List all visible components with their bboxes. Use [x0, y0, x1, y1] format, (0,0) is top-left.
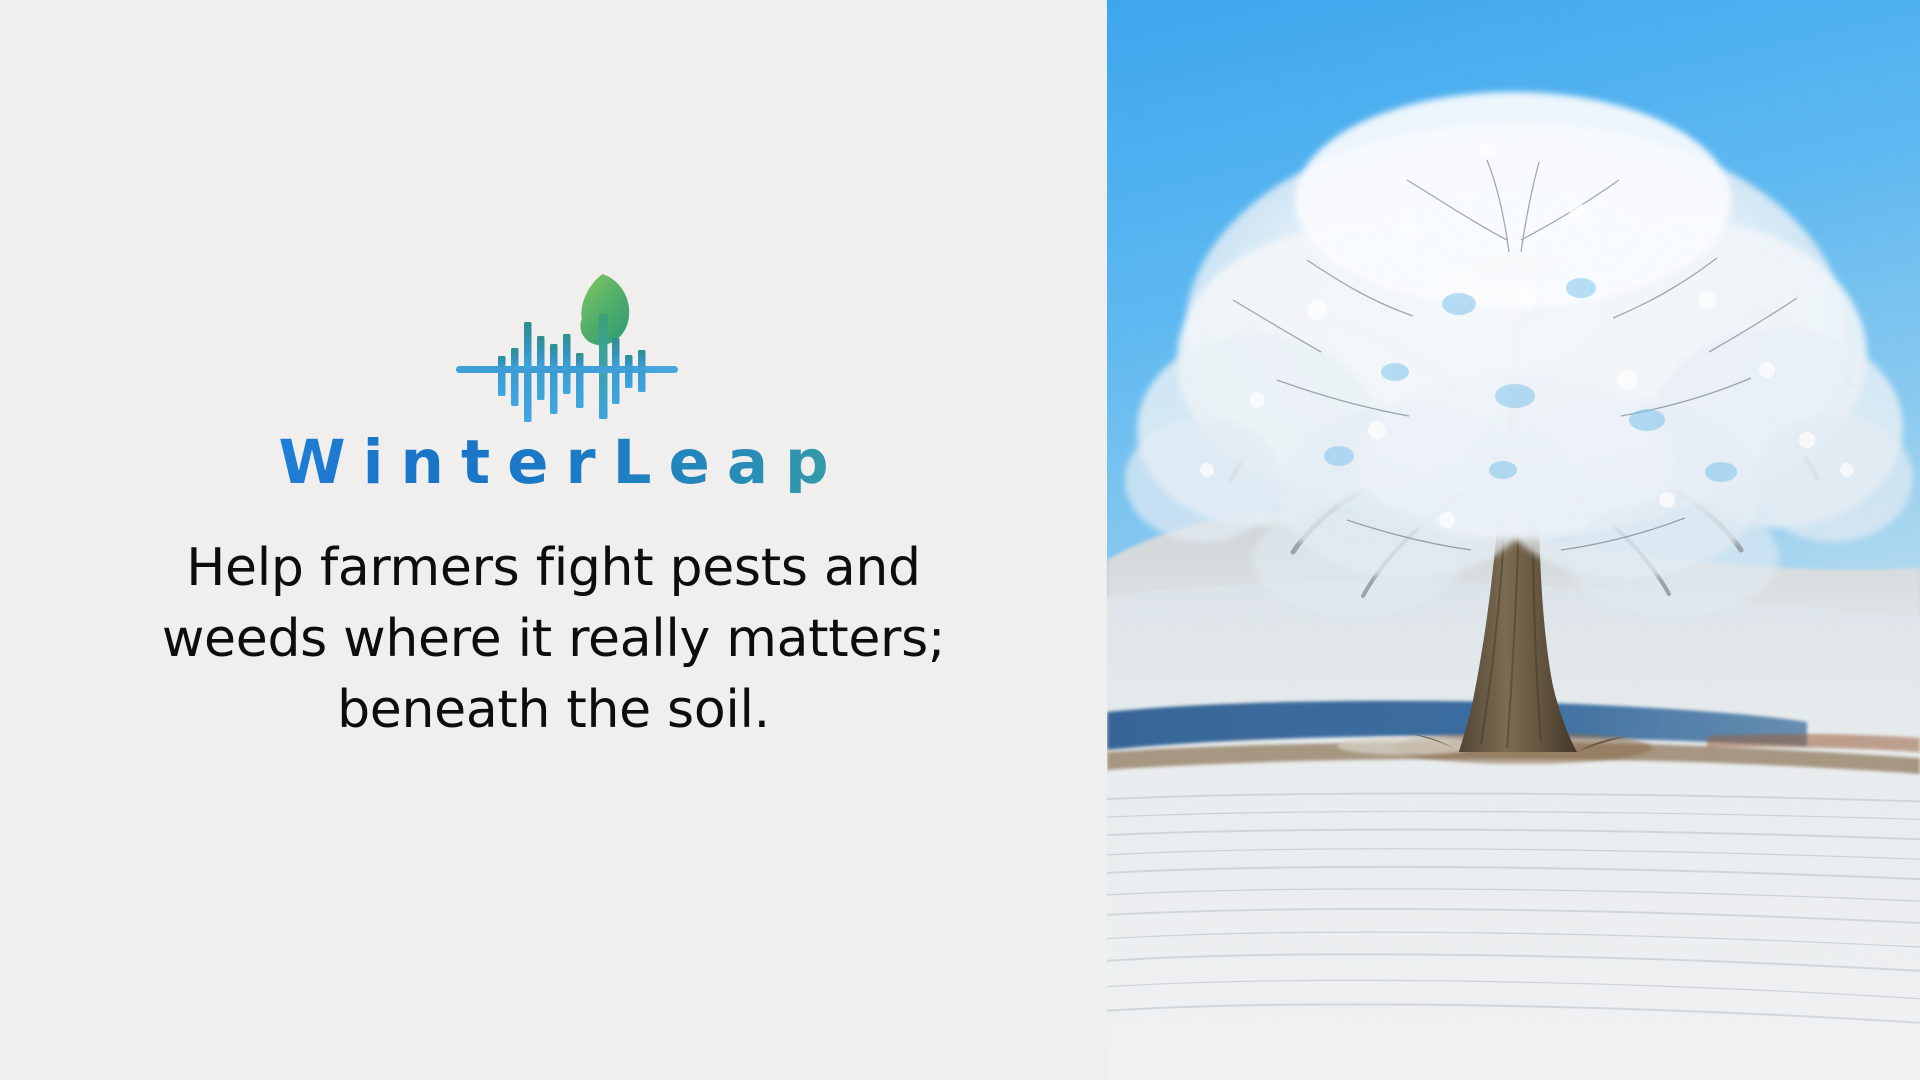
slide-root: WinterLeap Help farmers fight pests and … — [0, 0, 1920, 1080]
brand-block: WinterLeap Help farmers fight pests and … — [0, 262, 1107, 747]
tagline-line-1: Help farmers fight pests and — [104, 533, 1004, 604]
frosted-oak-tree-in-winter-field-photo — [1107, 0, 1920, 1080]
hero-photo-panel — [1107, 0, 1920, 1080]
waveform-sprout-logo — [452, 262, 682, 422]
tagline: Help farmers fight pests and weeds where… — [104, 533, 1004, 747]
photo-grain — [1107, 0, 1920, 1080]
left-content-panel: WinterLeap Help farmers fight pests and … — [0, 0, 1107, 1080]
waveform-bars-below — [498, 370, 646, 422]
tagline-line-3: beneath the soil. — [104, 675, 1004, 746]
tagline-line-2: weeds where it really matters; — [104, 604, 1004, 675]
brand-wordmark: WinterLeap — [261, 432, 845, 493]
